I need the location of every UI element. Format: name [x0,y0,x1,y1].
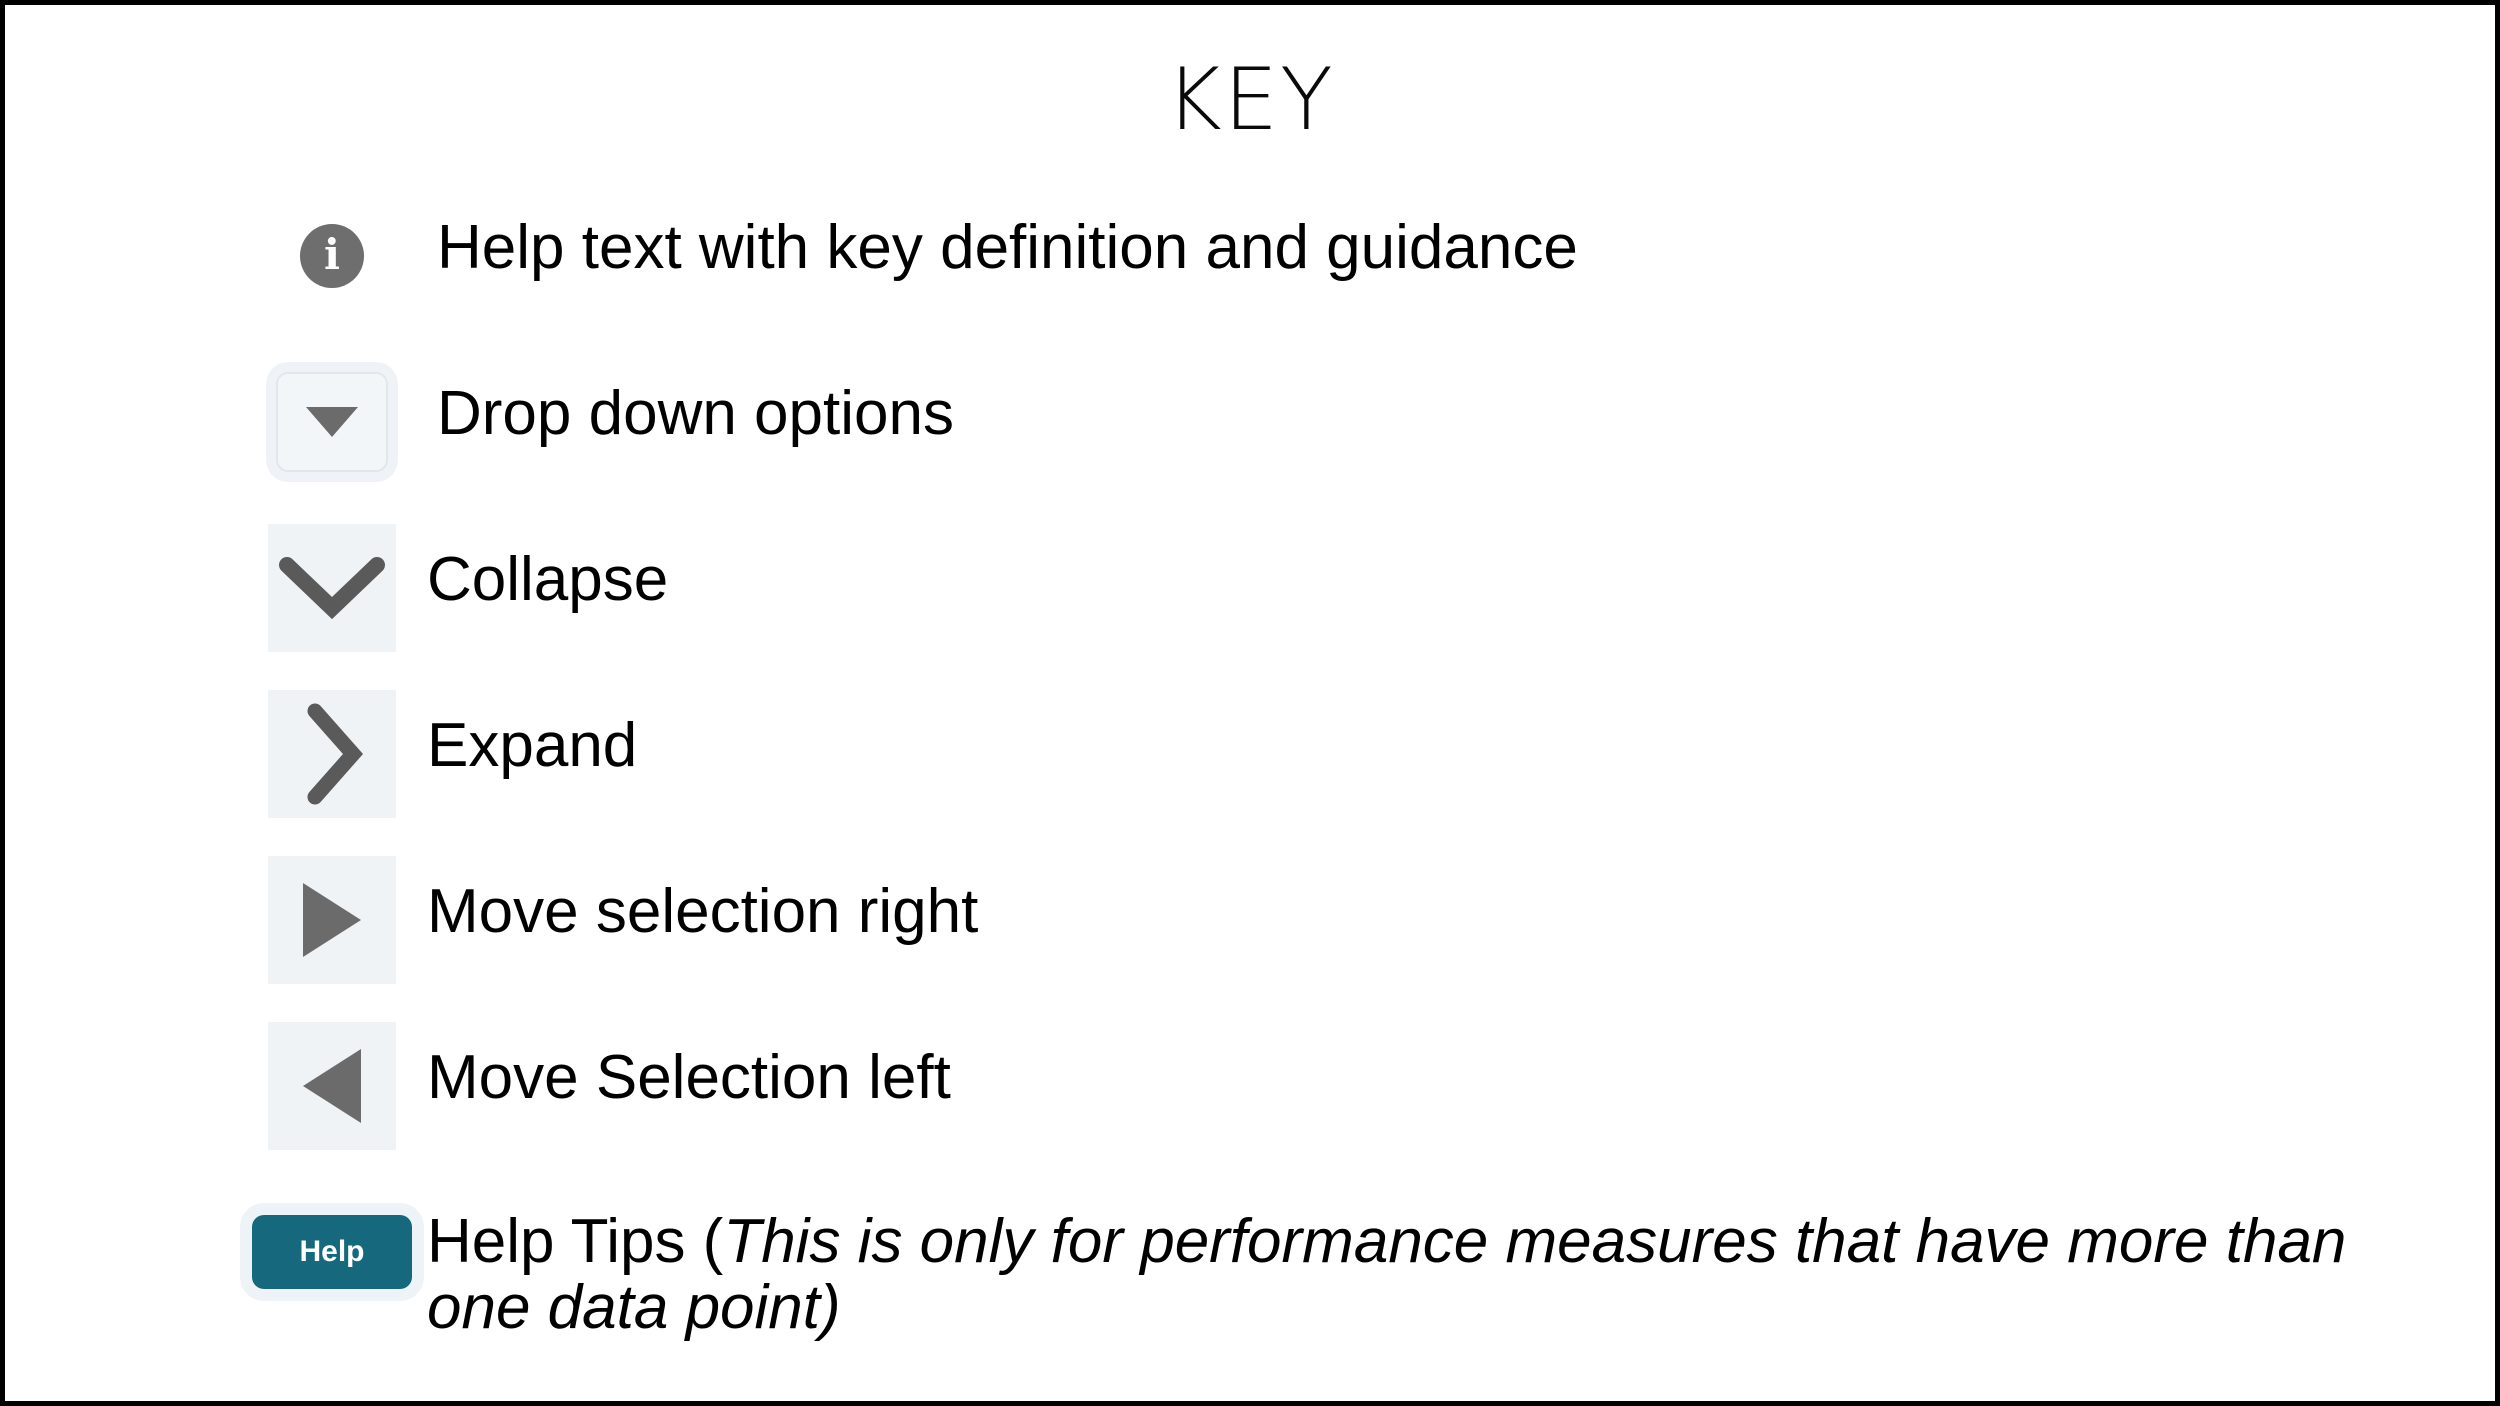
key-row-collapse: Collapse [237,533,2467,699]
key-row-label: Expand [427,699,637,780]
icon-cell: Help [237,1197,427,1307]
key-row-label: Move Selection left [427,1031,951,1112]
key-row-label: Move selection right [427,865,978,946]
key-row-label: Help Tips (This is only for performance … [427,1197,2357,1340]
chevron-right-icon [297,701,367,807]
icon-cell [237,699,427,809]
key-row-drop-down: Drop down options [237,367,2467,533]
move-right-tile[interactable] [268,856,396,984]
icon-cell [237,367,427,477]
help-tips-prefix: Help Tips ( [427,1207,723,1276]
chevron-down-icon [279,553,385,623]
key-row-help-tips: Help Help Tips (This is only for perform… [237,1197,2467,1340]
help-button-icon[interactable]: Help [252,1215,412,1289]
key-row-label: Collapse [427,533,668,614]
dropdown-caret-icon [306,407,358,437]
page-title: KEY [5,57,2495,143]
key-legend-list: i Help text with key definition and guid… [237,201,2467,1340]
collapse-tile[interactable] [268,524,396,652]
move-left-tile[interactable] [268,1022,396,1150]
key-row-move-right: Move selection right [237,865,2467,1031]
key-row-label: Help text with key definition and guidan… [437,201,1578,282]
triangle-left-icon [303,1049,361,1123]
icon-cell [237,1031,427,1141]
info-icon: i [300,224,364,288]
key-row-expand: Expand [237,699,2467,865]
key-row-help-text: i Help text with key definition and guid… [237,201,2467,367]
expand-tile[interactable] [268,690,396,818]
key-slide: KEY i Help text with key definition and … [0,0,2500,1406]
help-tips-suffix: ) [820,1273,841,1342]
triangle-right-icon [303,883,361,957]
icon-cell: i [237,201,427,311]
key-row-label: Drop down options [437,367,954,448]
dropdown-button[interactable] [276,372,388,472]
icon-cell [237,865,427,975]
icon-cell [237,533,427,643]
key-row-move-left: Move Selection left [237,1031,2467,1197]
